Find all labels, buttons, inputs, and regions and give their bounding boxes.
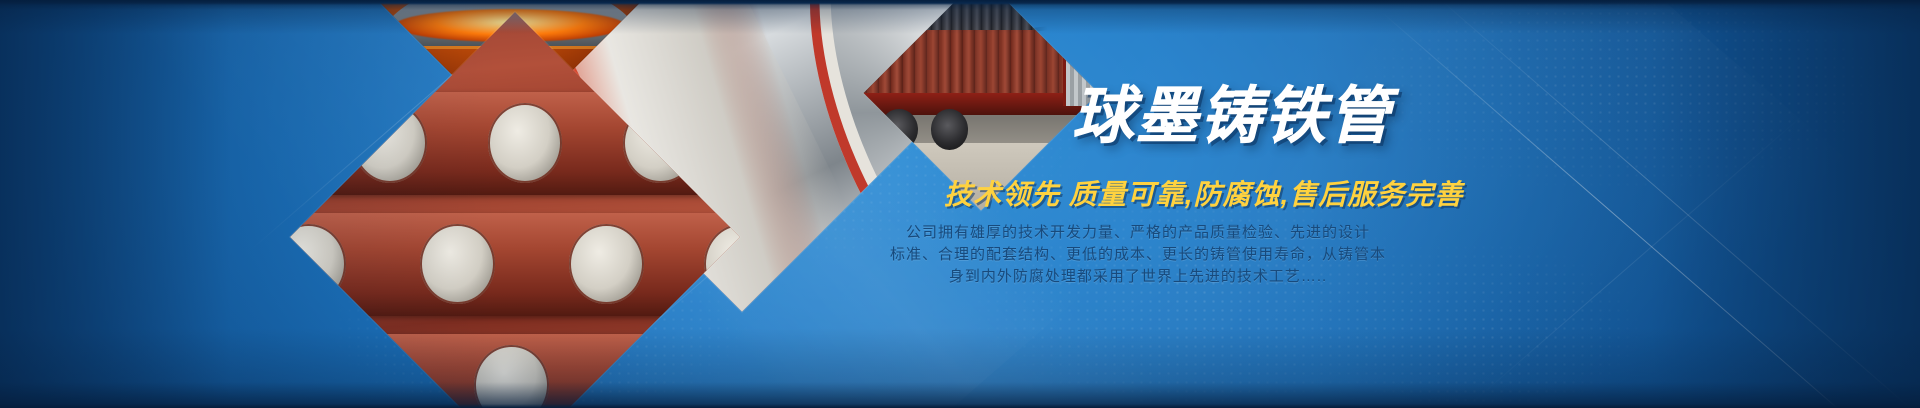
product-banner: 球墨铸铁管 技术领先 质量可靠,防腐蚀,售后服务完善 公司拥有雄厚的技术开发力量… [0,0,1920,408]
description-line: 公司拥有雄厚的技术开发力量、严格的产品质量检验、先进的设计 [838,222,1438,244]
description-line: 标准、合理的配套结构、更低的成本、更长的铸管使用寿命，从铸管本 [838,244,1438,266]
banner-headline: 球墨铸铁管 [1072,86,1392,148]
description-line: 身到内外防腐处理都采用了世界上先进的技术工艺….. [838,266,1438,288]
banner-subheadline: 技术领先 质量可靠,防腐蚀,售后服务完善 [944,181,1463,209]
banner-description: 公司拥有雄厚的技术开发力量、严格的产品质量检验、先进的设计 标准、合理的配套结构… [838,222,1438,288]
